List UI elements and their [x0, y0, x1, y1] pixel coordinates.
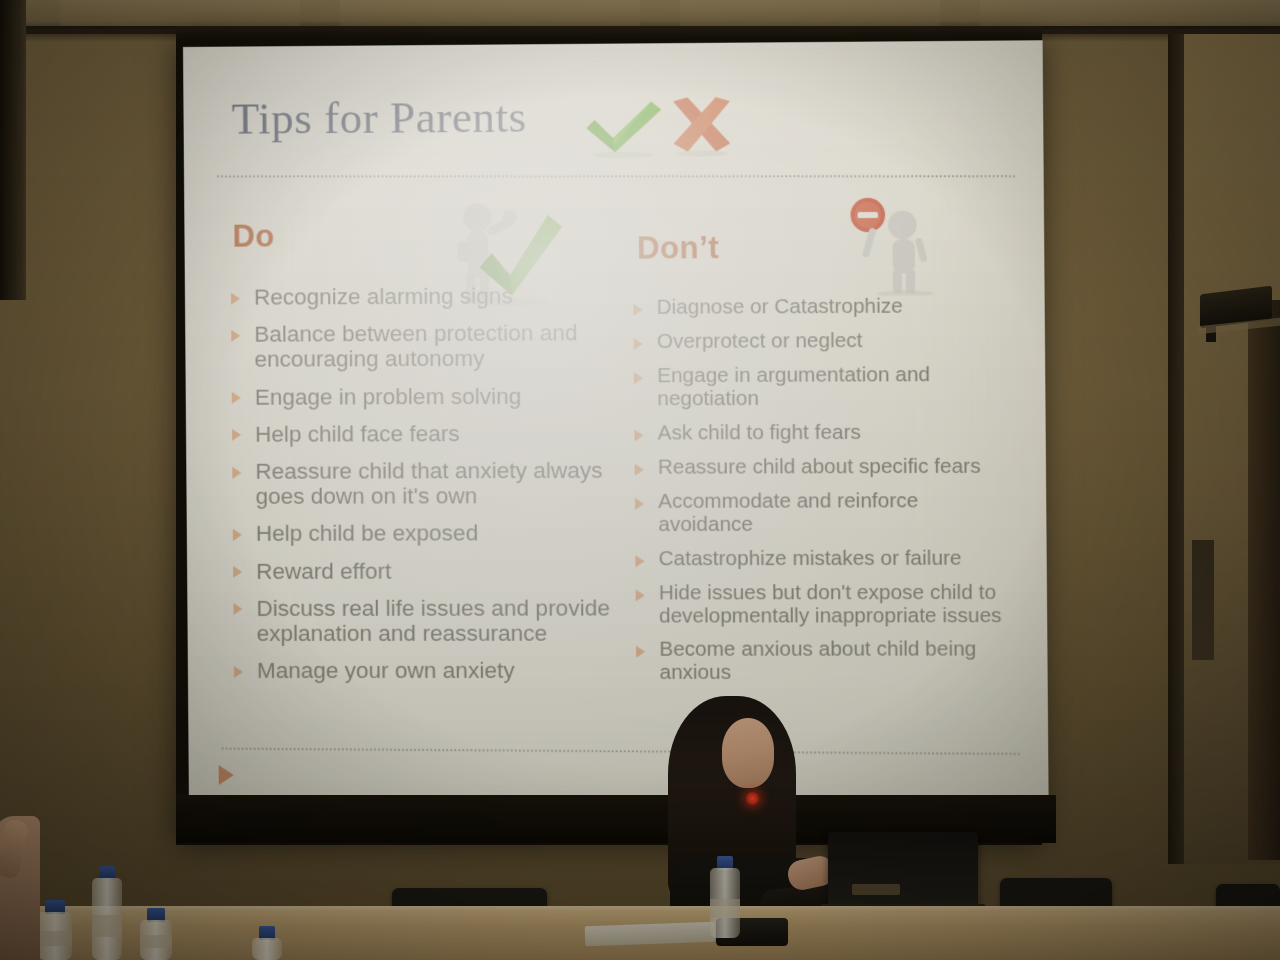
water-bottle — [252, 926, 282, 960]
water-bottle — [140, 908, 172, 960]
water-bottle — [710, 856, 740, 938]
bottle-label — [38, 931, 72, 945]
list-item: Recognize alarming signs — [225, 283, 612, 310]
bottle-label — [710, 899, 740, 919]
list-item: Accommodate and reinforce avoidance — [629, 490, 1005, 537]
header-marks — [580, 93, 742, 165]
list-item: Help child be exposed — [227, 520, 614, 546]
room-photo-scene: Tips for Parents Do Don’t — [0, 0, 1280, 960]
wall-panel-box — [1192, 540, 1214, 660]
list-item: Overprotect or neglect — [628, 329, 1004, 354]
list-item: Engage in argumentation and negotiation — [628, 364, 1004, 412]
column-heading-do: Do — [232, 218, 274, 254]
bottle-label — [92, 915, 122, 938]
projected-slide: Tips for Parents Do Don’t — [183, 40, 1049, 799]
slide-title: Tips for Parents — [231, 90, 527, 144]
list-item: Reassure child that anxiety always goes … — [226, 458, 614, 510]
list-item: Diagnose or Catastrophize — [627, 295, 1003, 320]
list-item: Balance between protection and encouragi… — [225, 320, 612, 372]
list-item: Engage in problem solving — [226, 383, 613, 410]
wall-right-column — [1168, 34, 1184, 864]
list-item: Discuss real life issues and provide exp… — [227, 595, 615, 646]
divider-top — [217, 175, 1015, 177]
recording-light-icon — [746, 792, 759, 805]
list-item: Reassure child about specific fears — [628, 455, 1004, 479]
list-item: Reward effort — [227, 558, 614, 584]
bottle-body — [252, 938, 282, 960]
presenter-face — [722, 718, 774, 788]
list-item: Become anxious about child being anxious — [630, 639, 1006, 685]
figure-no-entry-sign-icon — [839, 194, 952, 295]
laptop-hinge — [852, 884, 900, 895]
wall-far-right-shadow — [1248, 300, 1280, 860]
bottle-label — [140, 935, 172, 947]
bullet-list-do: Recognize alarming signs Balance between… — [225, 283, 615, 695]
red-cross-3d-icon — [663, 95, 740, 158]
wall-left-edge — [0, 0, 26, 300]
water-bottle — [38, 900, 72, 960]
presenter — [660, 690, 850, 940]
list-item: Catastrophize mistakes or failure — [629, 547, 1005, 571]
water-bottle — [92, 866, 122, 960]
list-item: Hide issues but don't expose child to de… — [629, 581, 1005, 628]
list-item: Help child face fears — [226, 420, 613, 447]
list-item: Manage your own anxiety — [228, 658, 615, 683]
divider-bottom — [222, 748, 1020, 755]
footer-triangle-arrow-icon — [219, 765, 234, 785]
bullet-list-dont: Diagnose or Catastrophize Overprotect or… — [627, 295, 1006, 696]
list-item: Ask child to fight fears — [628, 421, 1004, 445]
green-check-3d-icon — [580, 100, 667, 159]
column-heading-dont: Don’t — [637, 230, 719, 267]
